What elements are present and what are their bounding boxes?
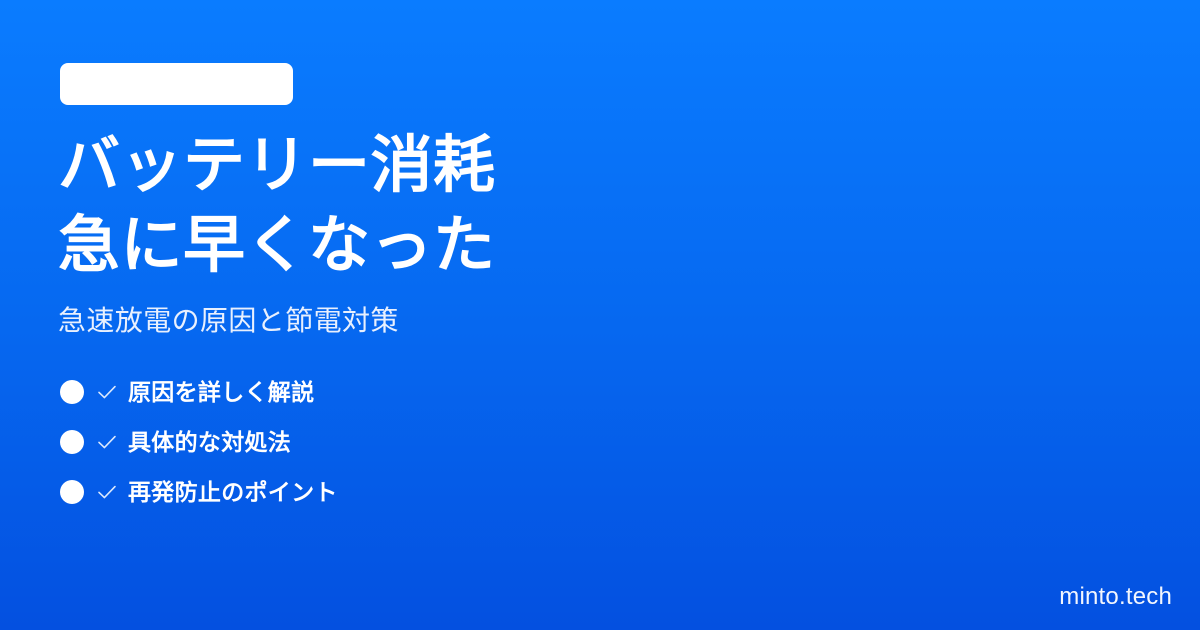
check-icon (96, 484, 118, 500)
bullet-dot-icon (60, 430, 84, 454)
page-title-line-2: 急に早くなった (58, 206, 818, 286)
list-item-label: 具体的な対処法 (128, 430, 291, 454)
list-item-label: 再発防止のポイント (128, 480, 338, 504)
page-title-line-1: バッテリー消耗 (58, 126, 818, 206)
list-item: 具体的な対処法 (60, 430, 338, 454)
bullet-dot-icon (60, 380, 84, 404)
list-item-label: 原因を詳しく解説 (128, 380, 314, 404)
check-icon (96, 384, 118, 400)
list-item: 再発防止のポイント (60, 480, 338, 504)
category-badge (60, 63, 293, 105)
page-subtitle: 急速放電の原因と節電対策 (58, 303, 399, 339)
check-icon (96, 434, 118, 450)
feature-list: 原因を詳しく解説 具体的な対処法 再発防止のポイント (60, 380, 338, 504)
list-item: 原因を詳しく解説 (60, 380, 338, 404)
page-title: バッテリー消耗 急に早くなった (58, 126, 818, 286)
hero-card: バッテリー消耗 急に早くなった 急速放電の原因と節電対策 原因を詳しく解説 具体… (0, 0, 1200, 630)
bullet-dot-icon (60, 480, 84, 504)
site-watermark: minto.tech (1059, 582, 1172, 612)
